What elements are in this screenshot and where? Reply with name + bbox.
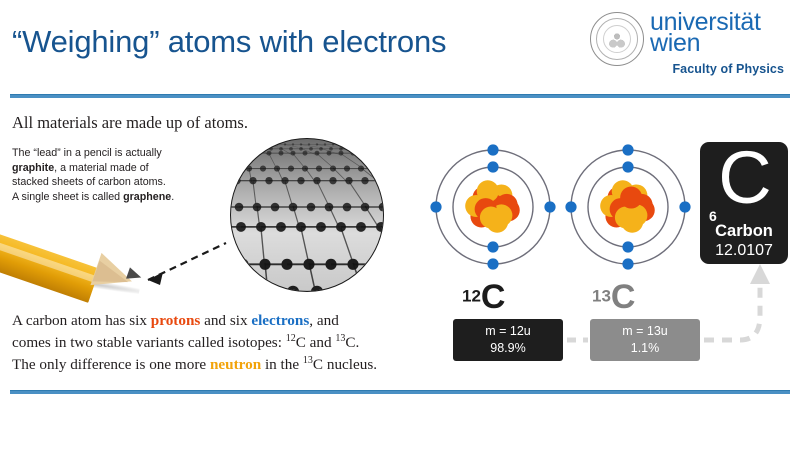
atom-model-carbon-12 <box>428 142 558 272</box>
page-title: “Weighing” atoms with electrons <box>12 24 572 60</box>
abundance-12: 98.9% <box>490 340 525 357</box>
carbon-description: A carbon atom has six protons and six el… <box>12 310 442 376</box>
electron <box>622 144 633 155</box>
pencil-body <box>0 233 100 303</box>
isotope-symbol-12: C <box>481 278 506 316</box>
neutron <box>480 207 502 229</box>
mass-box-carbon-12: m = 12u 98.9% <box>453 319 563 361</box>
body-3end: C nucleus. <box>313 356 377 373</box>
neutron-highlight: neutron <box>210 356 261 373</box>
logo-wordmark: universität wien <box>650 12 761 54</box>
electrons-highlight: electrons <box>251 312 309 329</box>
electron <box>565 201 576 212</box>
electron <box>622 241 633 252</box>
mass-value-13: m = 13u <box>622 323 668 340</box>
lead-statement: All materials are made up of atoms. <box>12 113 248 133</box>
electron <box>622 258 633 269</box>
electron <box>487 258 498 269</box>
electron <box>622 161 633 172</box>
isotope-mass-number-13: 13 <box>592 287 611 306</box>
element-atomic-weight: 12.0107 <box>700 242 788 260</box>
body-2a: comes in two stable variants called isot… <box>12 334 286 351</box>
electron <box>679 201 690 212</box>
sub-line-3: stacked sheets of carbon atoms. <box>12 176 166 188</box>
electron <box>487 241 498 252</box>
university-seal-icon <box>590 12 644 66</box>
isotope-label-carbon-12: 12C <box>462 278 505 317</box>
sub-line-4-end: . <box>171 191 174 203</box>
graphite-description: The “lead” in a pencil is actually graph… <box>12 146 227 204</box>
protons-highlight: protons <box>151 312 201 329</box>
body-3a: The only difference is one more <box>12 356 210 373</box>
body-1c: , and <box>309 312 339 329</box>
logo-faculty-label: Faculty of Physics <box>672 62 784 76</box>
pencil-illustration <box>0 222 175 290</box>
body-1b: and six <box>200 312 251 329</box>
body-1a: A carbon atom has six <box>12 312 151 329</box>
element-name: Carbon <box>700 222 788 241</box>
isotope-mass-number-12: 12 <box>462 287 481 306</box>
periodic-element-tile-carbon: C 6 Carbon 12.0107 <box>700 142 788 264</box>
atom-svg-carbon-12 <box>428 142 558 272</box>
body-3b: in the <box>261 356 303 373</box>
body-sup-13: 13 <box>335 333 345 344</box>
graphene-lattice-circle <box>230 138 384 292</box>
graphite-bold: graphite <box>12 162 54 174</box>
atom-svg-carbon-13 <box>563 142 693 272</box>
body-sup-13b: 13 <box>303 355 313 366</box>
abundance-13: 1.1% <box>631 340 660 357</box>
mass-to-tile-dashed-path <box>704 278 760 340</box>
sub-line-1: The “lead” in a pencil is actually <box>12 147 162 159</box>
university-logo: universität wien Faculty of Physics <box>576 8 786 86</box>
logo-line-2: wien <box>650 33 761 54</box>
graphene-lattice-svg <box>231 139 383 291</box>
mass-box-carbon-13: m = 13u 1.1% <box>590 319 700 361</box>
header-divider <box>10 94 790 98</box>
body-2end: C. <box>345 334 359 351</box>
footer-divider <box>10 390 790 394</box>
electron <box>544 201 555 212</box>
isotope-symbol-13: C <box>611 278 636 316</box>
slide-root: “Weighing” atoms with electrons universi… <box>0 0 800 457</box>
proton <box>620 187 642 209</box>
electron <box>487 161 498 172</box>
mass-to-tile-arrowhead <box>750 264 770 284</box>
neutron <box>615 207 637 229</box>
electron <box>430 201 441 212</box>
electron <box>487 144 498 155</box>
sub-line-4: A single sheet is called <box>12 191 123 203</box>
mass-value-12: m = 12u <box>485 323 531 340</box>
body-2mid: C and <box>296 334 336 351</box>
body-sup-12: 12 <box>286 333 296 344</box>
graphene-bold: graphene <box>123 191 171 203</box>
atom-model-carbon-13 <box>563 142 693 272</box>
isotope-label-carbon-13: 13C <box>592 278 635 317</box>
sub-line-2-rest: , a material made of <box>54 162 148 174</box>
